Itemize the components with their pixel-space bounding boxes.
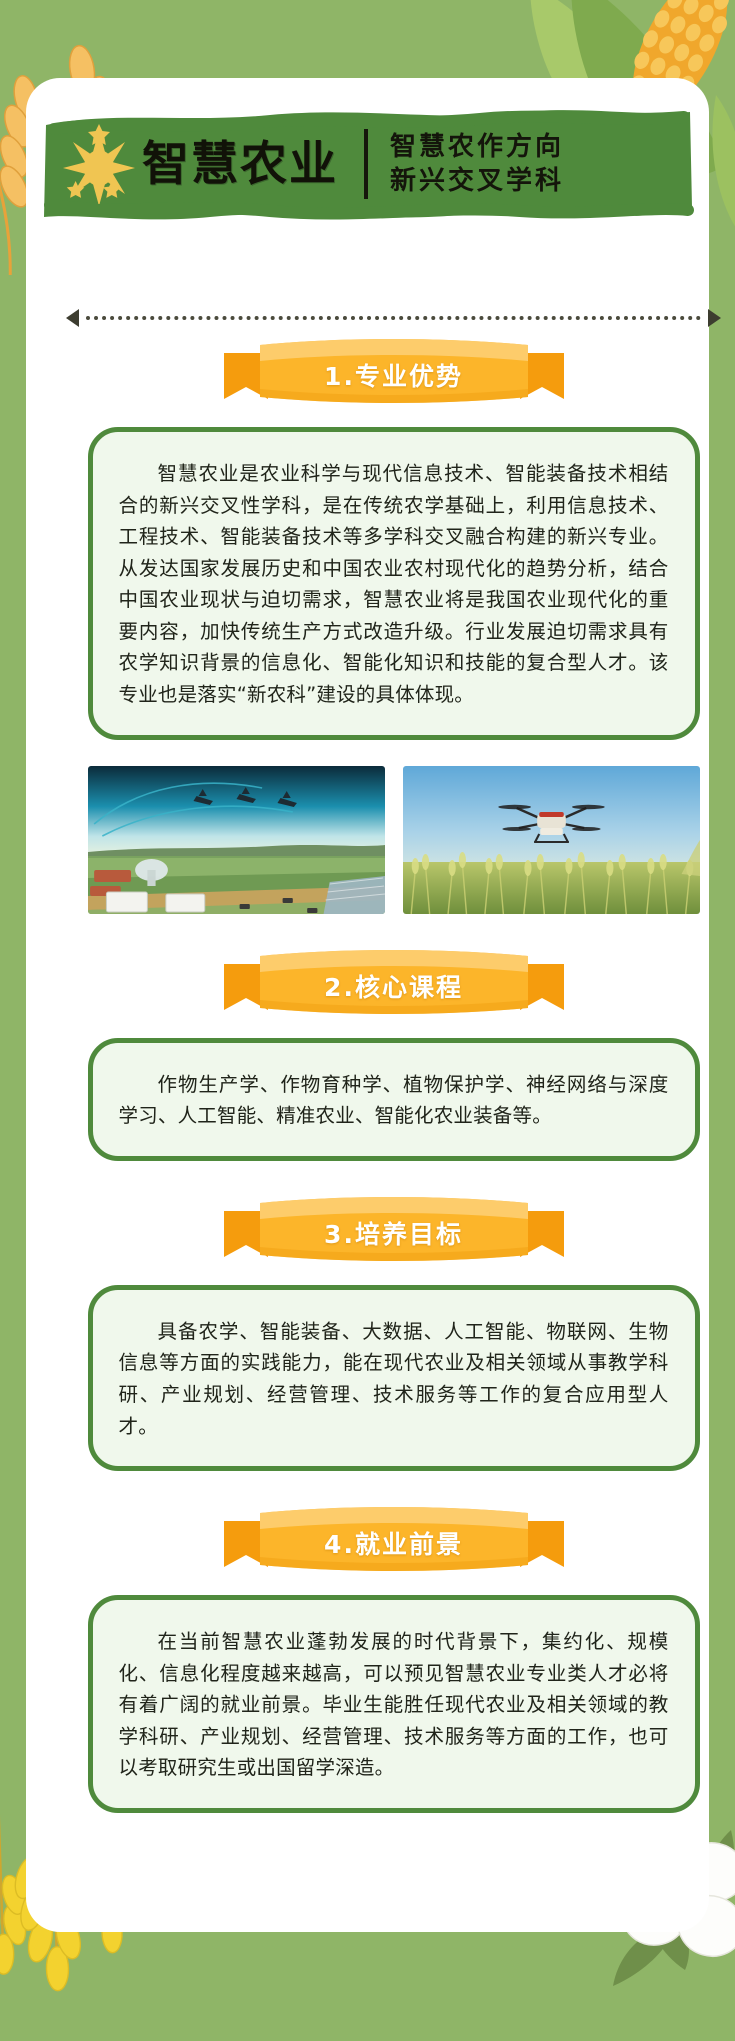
section-advantage: 1.专业优势 智慧农业是农业科学与现代信息技术、智能装备技术相结合的新兴交叉性学… bbox=[52, 337, 735, 914]
subtitle-line-1: 智慧农作方向 bbox=[390, 133, 564, 161]
title-divider bbox=[364, 129, 368, 199]
section-prospects: 4.就业前景 在当前智慧农业蓬勃发展的时代背景下，集约化、规模化、信息化程度越来… bbox=[52, 1505, 735, 1813]
main-card: 智慧农业 智慧农作方向 新兴交叉学科 1.专业优势 bbox=[26, 78, 709, 1932]
courses-body-text: 作物生产学、作物育种学、植物保护学、神经网络与深度学习、人工智能、精准农业、智能… bbox=[119, 1069, 669, 1132]
advantage-body-text: 智慧农业是农业科学与现代信息技术、智能装备技术相结合的新兴交叉性学科，是在传统农… bbox=[119, 458, 669, 711]
subtitle-line-2: 新兴交叉学科 bbox=[390, 167, 564, 195]
ribbon-section-2: 2.核心课程 bbox=[224, 948, 564, 1022]
smart-farm-aerial-photo bbox=[88, 766, 385, 914]
ribbon-label-3: 3.培养目标 bbox=[224, 1215, 564, 1251]
content-box-courses: 作物生产学、作物育种学、植物保护学、神经网络与深度学习、人工智能、精准农业、智能… bbox=[88, 1038, 700, 1161]
content-box-goals: 具备农学、智能装备、大数据、人工智能、物联网、生物信息等方面的实践能力，能在现代… bbox=[88, 1285, 700, 1471]
content-box-prospects: 在当前智慧农业蓬勃发展的时代背景下，集约化、规模化、信息化程度越来越高，可以预见… bbox=[88, 1595, 700, 1813]
ribbon-section-3: 3.培养目标 bbox=[224, 1195, 564, 1269]
page-title: 智慧农业 bbox=[142, 141, 338, 188]
ribbon-label-1: 1.专业优势 bbox=[224, 357, 564, 393]
section-goals: 3.培养目标 具备农学、智能装备、大数据、人工智能、物联网、生物信息等方面的实践… bbox=[52, 1195, 735, 1471]
arrow-left-icon bbox=[66, 309, 79, 327]
goals-body-text: 具备农学、智能装备、大数据、人工智能、物联网、生物信息等方面的实践能力，能在现代… bbox=[119, 1316, 669, 1442]
ribbon-section-1: 1.专业优势 bbox=[224, 337, 564, 411]
agricultural-drone-photo bbox=[403, 766, 700, 914]
ribbon-label-2: 2.核心课程 bbox=[224, 968, 564, 1004]
subtitle-group: 智慧农作方向 新兴交叉学科 bbox=[390, 133, 564, 194]
separator-dotted-line bbox=[86, 316, 701, 320]
dotted-separator bbox=[66, 309, 721, 327]
ribbon-label-4: 4.就业前景 bbox=[224, 1525, 564, 1561]
ribbon-section-4: 4.就业前景 bbox=[224, 1505, 564, 1579]
section-courses: 2.核心课程 作物生产学、作物育种学、植物保护学、神经网络与深度学习、人工智能、… bbox=[52, 948, 735, 1161]
content-box-advantage: 智慧农业是农业科学与现代信息技术、智能装备技术相结合的新兴交叉性学科，是在传统农… bbox=[88, 427, 700, 740]
sun-rays-emblem-icon bbox=[62, 124, 136, 204]
photo-row bbox=[88, 766, 700, 914]
prospects-body-text: 在当前智慧农业蓬勃发展的时代背景下，集约化、规模化、信息化程度越来越高，可以预见… bbox=[119, 1626, 669, 1784]
arrow-right-icon bbox=[708, 309, 721, 327]
content-container: 1.专业优势 智慧农业是农业科学与现代信息技术、智能装备技术相结合的新兴交叉性学… bbox=[52, 337, 735, 1813]
